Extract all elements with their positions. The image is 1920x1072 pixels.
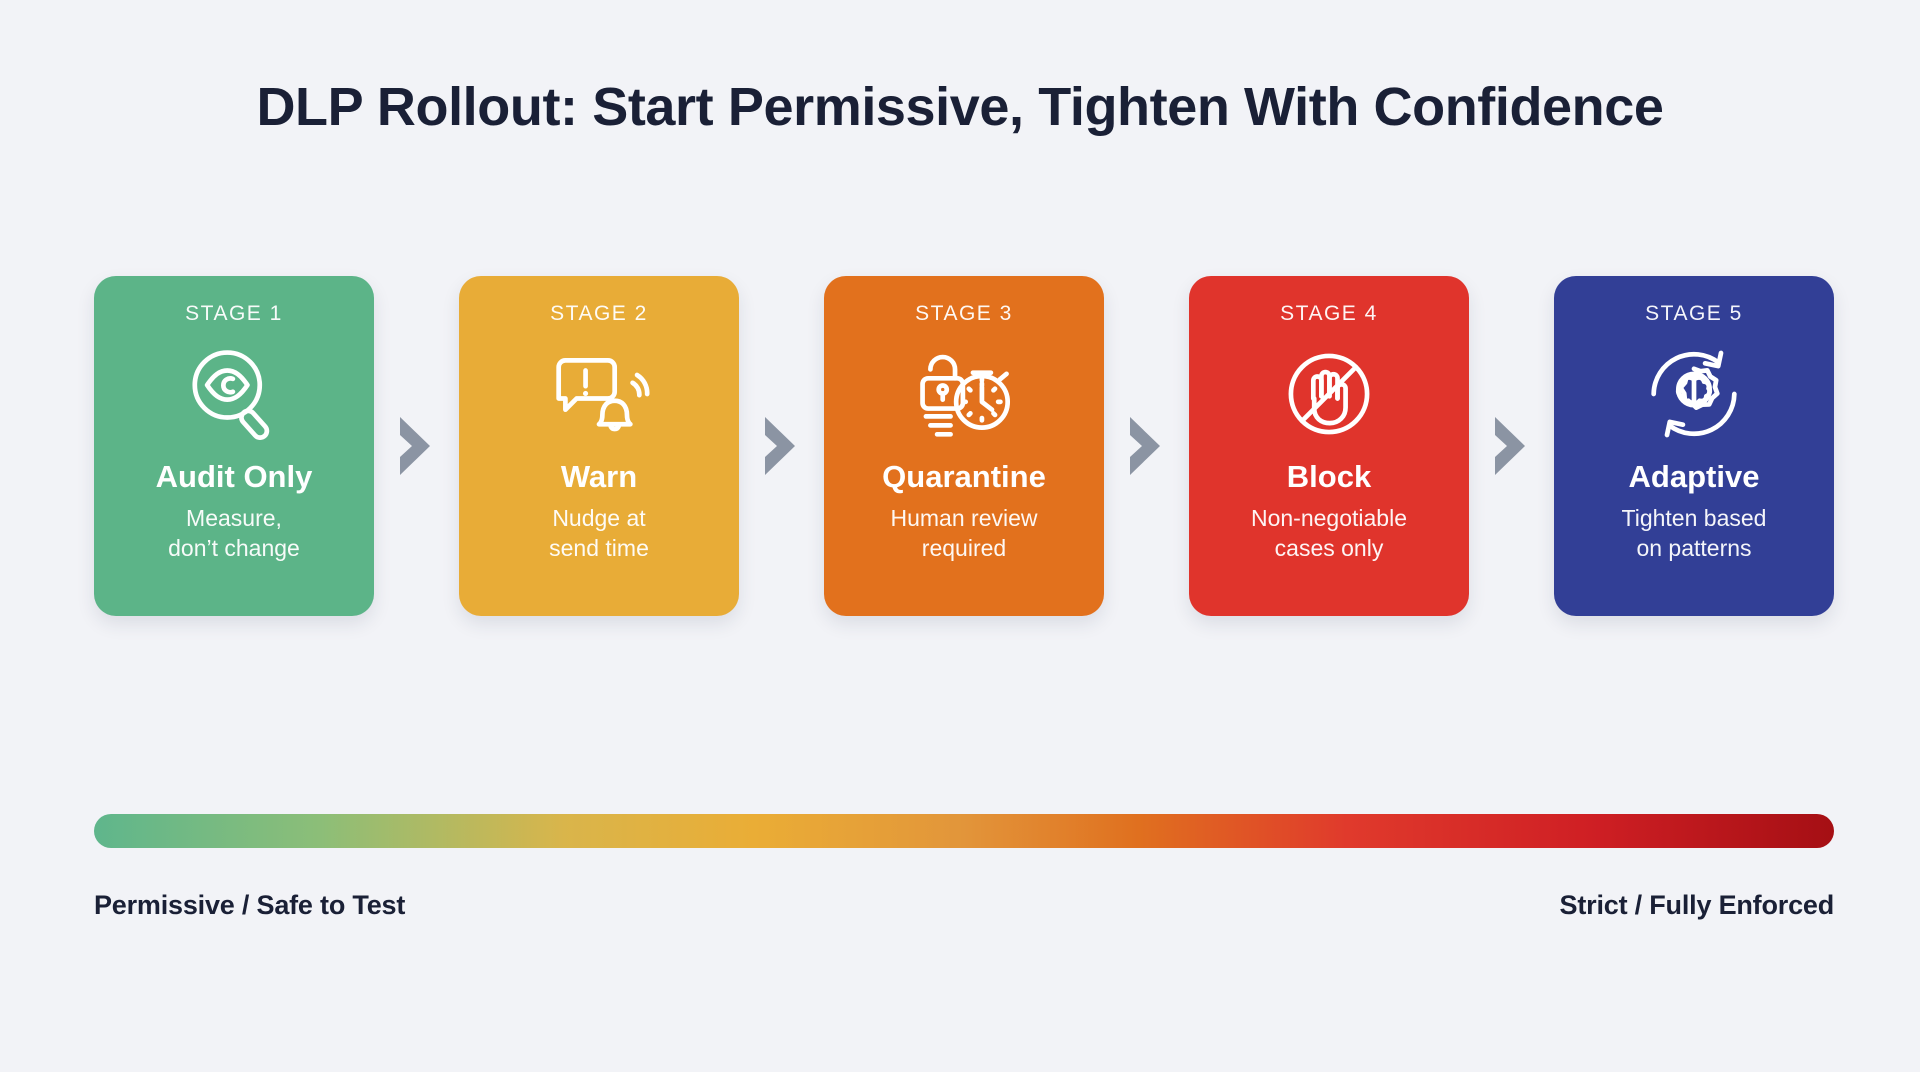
stage-label: STAGE 3 bbox=[915, 302, 1013, 326]
stage-title: Quarantine bbox=[882, 460, 1046, 494]
scale-label-right: Strict / Fully Enforced bbox=[1560, 890, 1834, 921]
magnifier-eye-icon bbox=[178, 338, 290, 450]
stage-label: STAGE 2 bbox=[550, 302, 648, 326]
scale-labels: Permissive / Safe to Test Strict / Fully… bbox=[94, 890, 1834, 921]
stage-description: Tighten based on patterns bbox=[1612, 504, 1777, 563]
lock-stopwatch-icon bbox=[908, 338, 1020, 450]
stage-description: Nudge at send time bbox=[539, 504, 659, 563]
gear-brain-refresh-icon bbox=[1638, 338, 1750, 450]
stage-card-adaptive[interactable]: STAGE 5 Adaptive Tighten based on patter… bbox=[1554, 276, 1834, 616]
chevron-right-icon bbox=[374, 276, 459, 616]
stage-card-warn[interactable]: STAGE 2 Warn Nudge at send time bbox=[459, 276, 739, 616]
infographic-page: DLP Rollout: Start Permissive, Tighten W… bbox=[0, 0, 1920, 1072]
strictness-gradient-bar bbox=[94, 814, 1834, 848]
alert-bubble-bell-icon bbox=[543, 338, 655, 450]
stage-label: STAGE 4 bbox=[1280, 302, 1378, 326]
chevron-right-icon bbox=[1469, 276, 1554, 616]
stage-title: Block bbox=[1287, 460, 1371, 494]
stage-pipeline: STAGE 1 Audit Only Measure, don’t change… bbox=[94, 276, 1834, 616]
stage-description: Human review required bbox=[881, 504, 1048, 563]
stage-card-quarantine[interactable]: STAGE 3 Quarantine Human review req bbox=[824, 276, 1104, 616]
stage-title: Adaptive bbox=[1629, 460, 1760, 494]
stage-title: Audit Only bbox=[156, 460, 313, 494]
page-title: DLP Rollout: Start Permissive, Tighten W… bbox=[0, 78, 1920, 137]
no-hand-icon bbox=[1273, 338, 1385, 450]
stage-card-block[interactable]: STAGE 4 Block Non-negotiable cases only bbox=[1189, 276, 1469, 616]
scale-label-left: Permissive / Safe to Test bbox=[94, 890, 405, 921]
stage-description: Measure, don’t change bbox=[158, 504, 310, 563]
stage-label: STAGE 1 bbox=[185, 302, 283, 326]
chevron-right-icon bbox=[1104, 276, 1189, 616]
stage-card-audit-only[interactable]: STAGE 1 Audit Only Measure, don’t change bbox=[94, 276, 374, 616]
stage-label: STAGE 5 bbox=[1645, 302, 1743, 326]
stage-description: Non-negotiable cases only bbox=[1241, 504, 1417, 563]
stage-title: Warn bbox=[561, 460, 637, 494]
chevron-right-icon bbox=[739, 276, 824, 616]
